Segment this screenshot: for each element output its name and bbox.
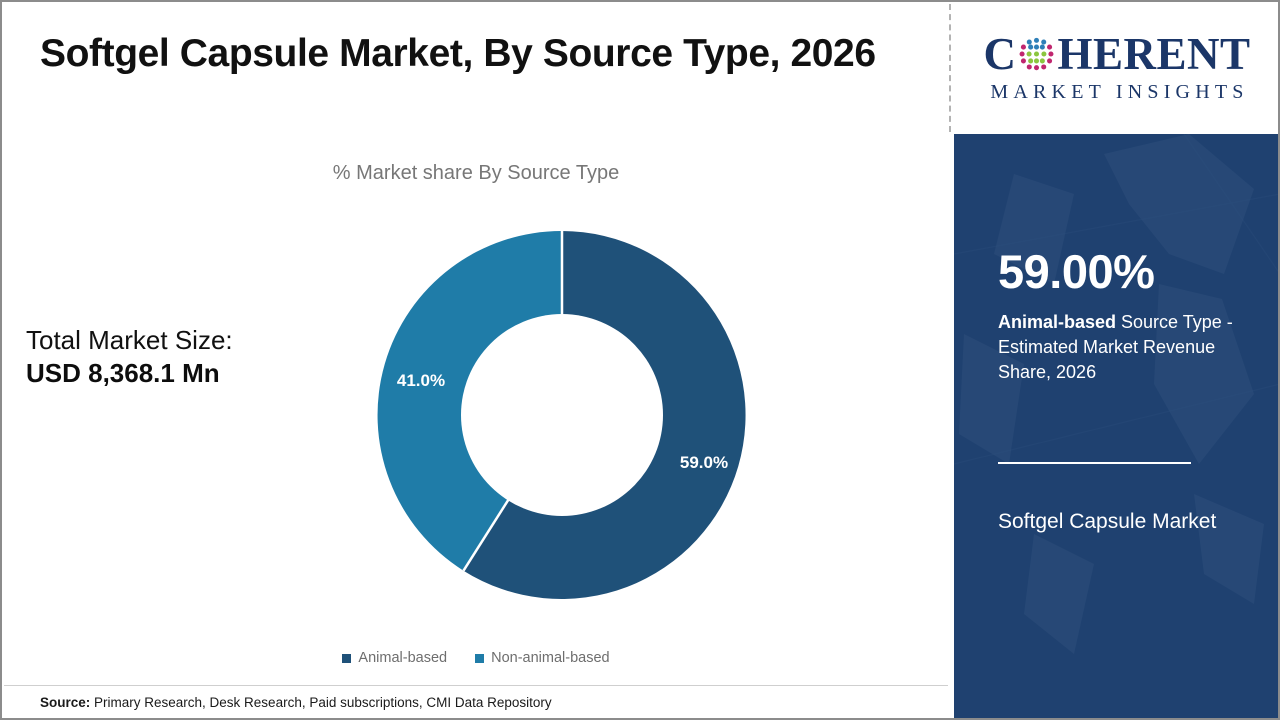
stat-panel: 59.00% Animal-based Source Type - Estima… [954,134,1280,720]
market-name: Softgel Capsule Market [998,502,1228,543]
total-market-size-value: USD 8,368.1 Mn [26,357,326,390]
donut-hole [461,314,663,516]
donut-label-animal-based: 59.0% [680,453,728,472]
chart-subtitle: % Market share By Source Type [2,162,950,185]
logo-wordmark: C [983,32,1250,77]
legend-item-non-animal-based[interactable]: Non-animal-based [475,650,609,666]
stat-description-highlight: Animal-based [998,312,1116,332]
brand-logo[interactable]: C [954,4,1280,132]
legend-swatch-icon-non-animal-based [475,654,484,663]
left-content-pane: Softgel Capsule Market, By Source Type, … [2,2,950,718]
globe-dots-icon [1017,35,1056,74]
donut-chart-svg: 59.0% 41.0% [374,224,750,606]
total-market-size-block: Total Market Size: USD 8,368.1 Mn [26,324,326,391]
stat-description: Animal-based Source Type - Estimated Mar… [998,310,1246,384]
source-text: Primary Research, Desk Research, Paid su… [90,695,551,710]
stat-panel-content: 59.00% Animal-based Source Type - Estima… [998,134,1248,720]
legend-label-non-animal-based: Non-animal-based [491,650,609,666]
logo-word-herent: HERENT [1057,32,1250,77]
stat-percentage: 59.00% [998,248,1154,295]
legend-item-animal-based[interactable]: Animal-based [342,650,447,666]
source-label: Source: [40,695,90,710]
footer-divider [4,685,948,686]
logo-tagline: MARKET INSIGHTS [985,81,1248,104]
chart-legend: Animal-based Non-animal-based [2,650,950,666]
infographic-slide: Softgel Capsule Market, By Source Type, … [0,0,1280,720]
donut-label-non-animal-based: 41.0% [397,371,445,390]
source-footer: Source: Primary Research, Desk Research,… [40,695,552,710]
panel-divider [998,462,1191,464]
page-title: Softgel Capsule Market, By Source Type, … [40,32,876,76]
logo-letter-c: C [983,32,1016,77]
legend-label-animal-based: Animal-based [358,650,447,666]
legend-swatch-icon-animal-based [342,654,351,663]
donut-chart: 59.0% 41.0% [374,224,750,606]
vertical-dashed-divider [949,4,951,132]
total-market-size-label: Total Market Size: [26,324,326,357]
